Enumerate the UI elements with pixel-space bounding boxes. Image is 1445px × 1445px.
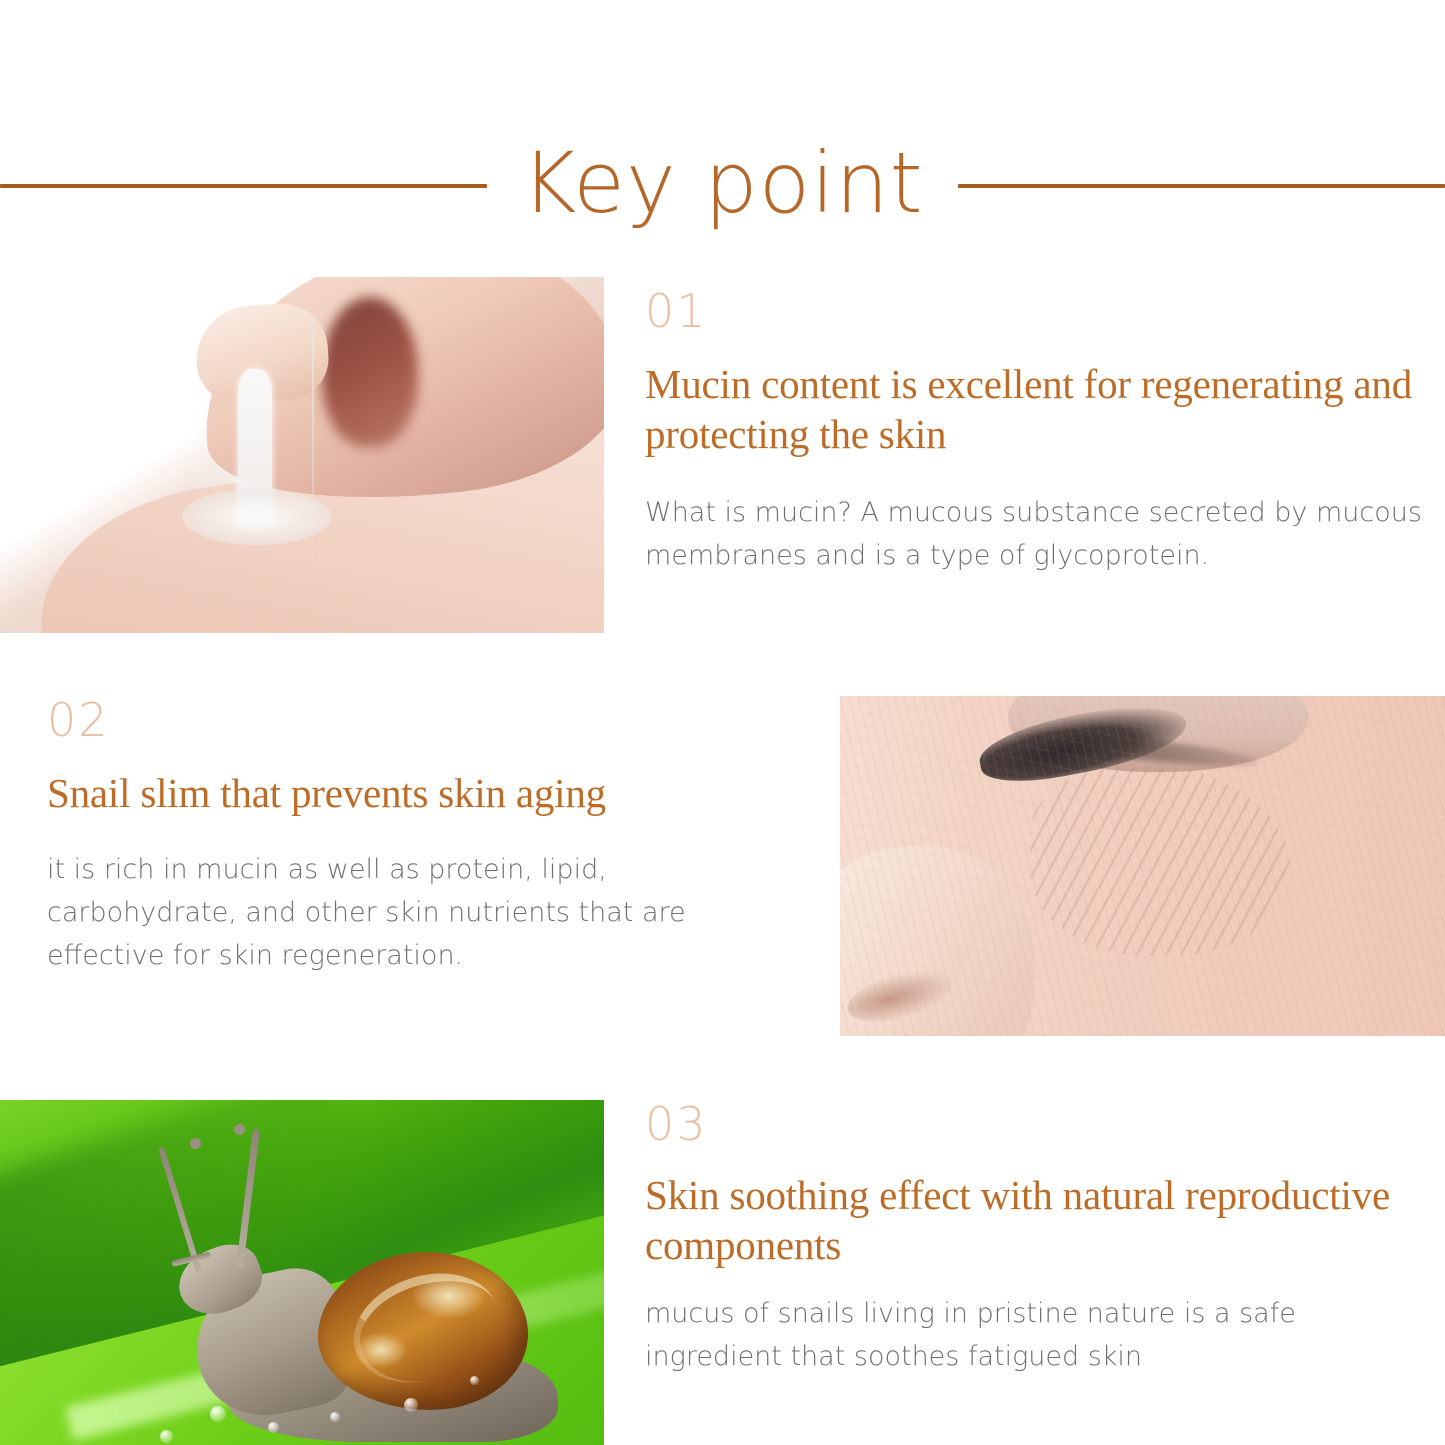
finger-shadow — [322, 297, 418, 447]
snail-eye-left — [190, 1138, 201, 1149]
dew-drop — [470, 1376, 479, 1385]
wrinkle-texture — [840, 696, 1445, 1036]
dew-drop — [210, 1406, 226, 1422]
gel-pool — [182, 489, 332, 545]
header-rule-right — [958, 184, 1445, 188]
dew-drop — [268, 1422, 279, 1433]
dew-drop — [160, 1430, 173, 1443]
section-01: 01 Mucin content is excellent for regene… — [645, 285, 1435, 577]
section-01-number: 01 — [645, 285, 1435, 337]
section-01-heading: Mucin content is excellent for regenerat… — [645, 359, 1435, 459]
page-title: Key point — [505, 124, 940, 242]
section-01-body: What is mucin? A mucous substance secret… — [645, 491, 1435, 577]
header-rule-left — [0, 184, 487, 188]
page-header: Key point — [0, 62, 1445, 182]
dew-drop — [404, 1398, 418, 1412]
gel-on-skin-image — [0, 277, 604, 633]
section-03-body: mucus of snails living in pristine natur… — [645, 1292, 1405, 1378]
key-point-infographic: Key point 01 Mucin content is excellent … — [0, 0, 1445, 1445]
section-03: 03 Skin soothing effect with natural rep… — [645, 1098, 1405, 1378]
section-02-heading: Snail slim that prevents skin aging — [47, 768, 697, 818]
aging-skin-image — [840, 696, 1445, 1036]
section-02-body: it is rich in mucin as well as protein, … — [47, 848, 697, 977]
dew-drop — [330, 1412, 340, 1422]
snail-eye-right — [234, 1124, 245, 1135]
section-03-heading: Skin soothing effect with natural reprod… — [645, 1170, 1405, 1270]
snail-on-leaf-image — [0, 1100, 604, 1445]
section-03-number: 03 — [645, 1098, 1405, 1150]
section-02: 02 Snail slim that prevents skin aging i… — [47, 694, 697, 977]
section-02-number: 02 — [47, 694, 697, 746]
